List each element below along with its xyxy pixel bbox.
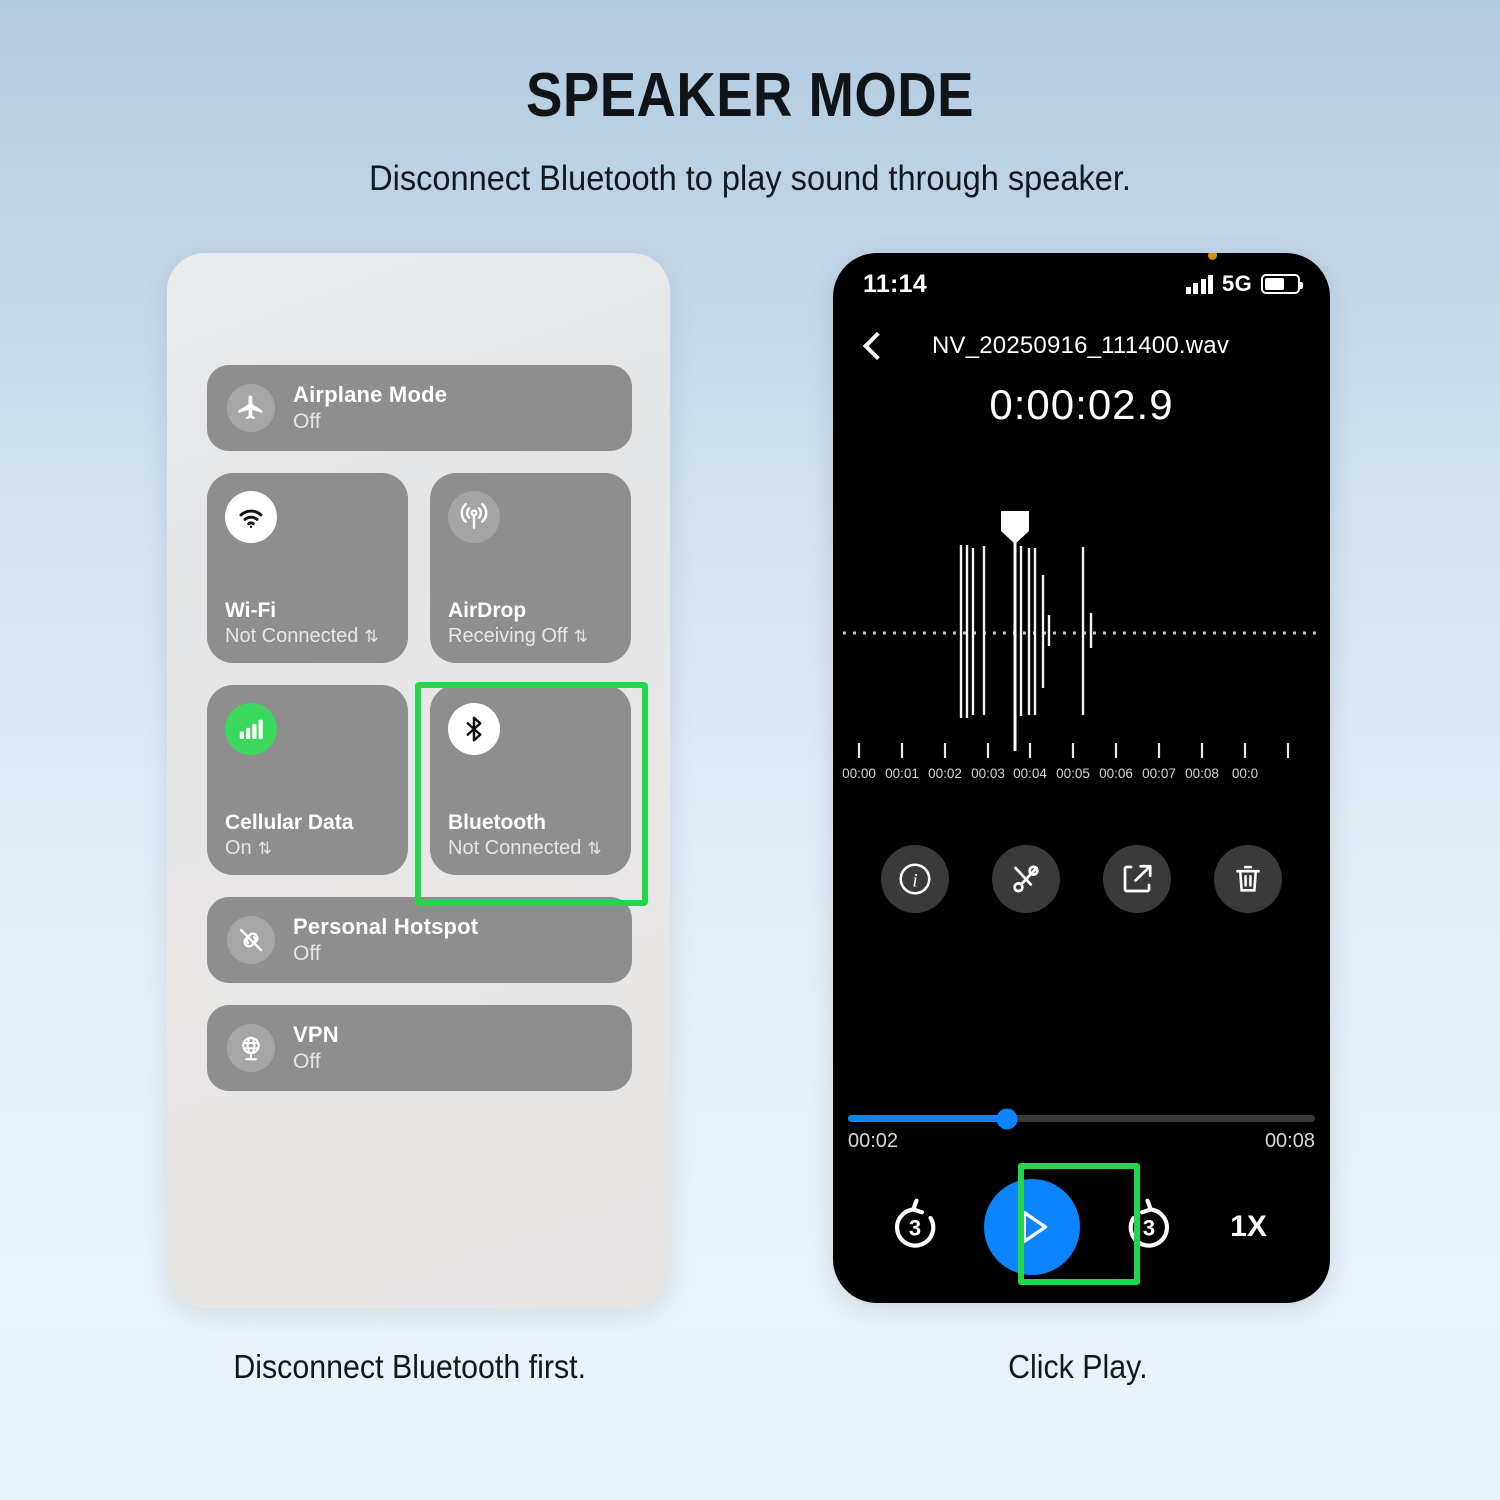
tile-airdrop-text: AirDrop Receiving Off ⇅: [448, 598, 588, 649]
tile-row-wifi-airdrop: Wi-Fi Not Connected ⇅: [207, 473, 632, 663]
tile-status-row: Receiving Off ⇅: [448, 624, 588, 649]
ruler-tick-label: 00:08: [1185, 766, 1219, 781]
share-button[interactable]: [1103, 845, 1171, 913]
tile-cellular-text: Cellular Data On ⇅: [225, 810, 353, 861]
tile-status: Off: [293, 941, 478, 966]
progress-section: 00:02 00:08: [848, 1115, 1315, 1153]
ruler-tick-label: 00:02: [928, 766, 962, 781]
progress-time-labels: 00:02 00:08: [848, 1130, 1315, 1153]
tile-label: Cellular Data: [225, 810, 353, 835]
playback-speed-button[interactable]: 1X: [1218, 1210, 1280, 1244]
file-name-title: NV_20250916_111400.wav: [887, 332, 1274, 360]
play-button-highlight-box: [1018, 1163, 1140, 1285]
tile-wifi[interactable]: Wi-Fi Not Connected ⇅: [207, 473, 408, 663]
tile-label: Personal Hotspot: [293, 914, 478, 939]
hotspot-link-icon: [227, 916, 275, 964]
ruler-tick-label: 00:05: [1056, 766, 1090, 781]
skip-back-label: 3: [908, 1215, 920, 1240]
caption-right: Click Play.: [1008, 1348, 1147, 1386]
header: SPEAKER MODE Disconnect Bluetooth to pla…: [0, 0, 1500, 199]
tile-status-row: On ⇅: [225, 836, 353, 861]
airplane-icon: [227, 384, 275, 432]
airdrop-icon: [448, 491, 500, 543]
waveform-area[interactable]: 00:0000:0100:0200:0300:0400:0500:0600:07…: [833, 503, 1330, 793]
mic-active-dot-icon: [1208, 253, 1217, 260]
page-subtitle: Disconnect Bluetooth to play sound throu…: [53, 159, 1448, 199]
tile-status: Not Connected: [225, 624, 358, 649]
ruler-tick-label: 00:03: [971, 766, 1005, 781]
tile-label: VPN: [293, 1022, 339, 1047]
trash-icon: [1231, 862, 1265, 896]
share-icon: [1119, 861, 1155, 897]
tile-personal-hotspot[interactable]: Personal Hotspot Off: [207, 897, 632, 983]
network-type-label: 5G: [1222, 271, 1252, 297]
skip-back-button[interactable]: 3: [884, 1196, 946, 1258]
tile-vpn-text: VPN Off: [293, 1022, 339, 1074]
tile-label: Airplane Mode: [293, 382, 447, 407]
tile-status: On: [225, 836, 252, 861]
nav-bar: NV_20250916_111400.wav: [833, 315, 1330, 377]
waveform-svg: 00:0000:0100:0200:0300:0400:0500:0600:07…: [833, 503, 1330, 793]
skip-back-3-icon: 3: [884, 1196, 946, 1258]
scissors-icon: [1008, 861, 1044, 897]
tile-airplane-text: Airplane Mode Off: [293, 382, 447, 434]
signal-bars-icon: [1186, 275, 1214, 294]
tile-vpn[interactable]: VPN Off: [207, 1005, 632, 1091]
chevron-updown-icon[interactable]: ⇅: [574, 628, 588, 645]
elapsed-time: 0:00:02.9: [833, 381, 1330, 429]
ruler-tick-label: 00:00: [842, 766, 876, 781]
tile-cellular-data[interactable]: Cellular Data On ⇅: [207, 685, 408, 875]
cellular-bars-icon: [225, 703, 277, 755]
info-icon: i: [896, 860, 934, 898]
chevron-updown-icon[interactable]: ⇅: [364, 628, 378, 645]
chevron-updown-icon[interactable]: ⇅: [258, 840, 272, 857]
tile-airplane-mode[interactable]: Airplane Mode Off: [207, 365, 632, 451]
ruler-tick-label: 00:06: [1099, 766, 1133, 781]
battery-icon: [1261, 274, 1300, 294]
current-time-label: 00:02: [848, 1130, 898, 1153]
tile-status: Receiving Off: [448, 624, 568, 649]
recorder-phone-screen: 11:14 5G NV_20250916_111400.wav 0:00:02.…: [833, 253, 1330, 1303]
ruler-tick-label: 00:07: [1142, 766, 1176, 781]
total-time-label: 00:08: [1265, 1130, 1315, 1153]
caption-left: Disconnect Bluetooth first.: [233, 1348, 586, 1386]
skip-forward-label: 3: [1142, 1215, 1154, 1240]
tile-status: Off: [293, 409, 447, 434]
progress-fill: [848, 1115, 1007, 1122]
status-bar-indicators: 5G: [1186, 271, 1300, 297]
ruler-tick-label: 00:01: [885, 766, 919, 781]
ruler-tick-label: 00:04: [1013, 766, 1047, 781]
tile-label: AirDrop: [448, 598, 588, 623]
tile-hotspot-text: Personal Hotspot Off: [293, 914, 478, 966]
status-bar-time: 11:14: [863, 270, 927, 299]
page-title: SPEAKER MODE: [90, 60, 1410, 131]
status-bar: 11:14 5G: [833, 253, 1330, 315]
trim-button[interactable]: [992, 845, 1060, 913]
delete-button[interactable]: [1214, 845, 1282, 913]
ruler-tick-label: 00:0: [1232, 766, 1258, 781]
svg-text:i: i: [912, 870, 917, 891]
progress-slider[interactable]: [848, 1115, 1315, 1122]
wifi-icon: [225, 491, 277, 543]
info-button[interactable]: i: [881, 845, 949, 913]
tile-wifi-text: Wi-Fi Not Connected ⇅: [225, 598, 379, 649]
tile-label: Wi-Fi: [225, 598, 379, 623]
tile-status: Off: [293, 1049, 339, 1074]
tile-status-row: Not Connected ⇅: [225, 624, 379, 649]
vpn-globe-icon: [227, 1024, 275, 1072]
action-button-row: i: [833, 845, 1330, 913]
progress-thumb[interactable]: [996, 1108, 1017, 1129]
bluetooth-highlight-box: [415, 682, 648, 906]
tile-airdrop[interactable]: AirDrop Receiving Off ⇅: [430, 473, 631, 663]
